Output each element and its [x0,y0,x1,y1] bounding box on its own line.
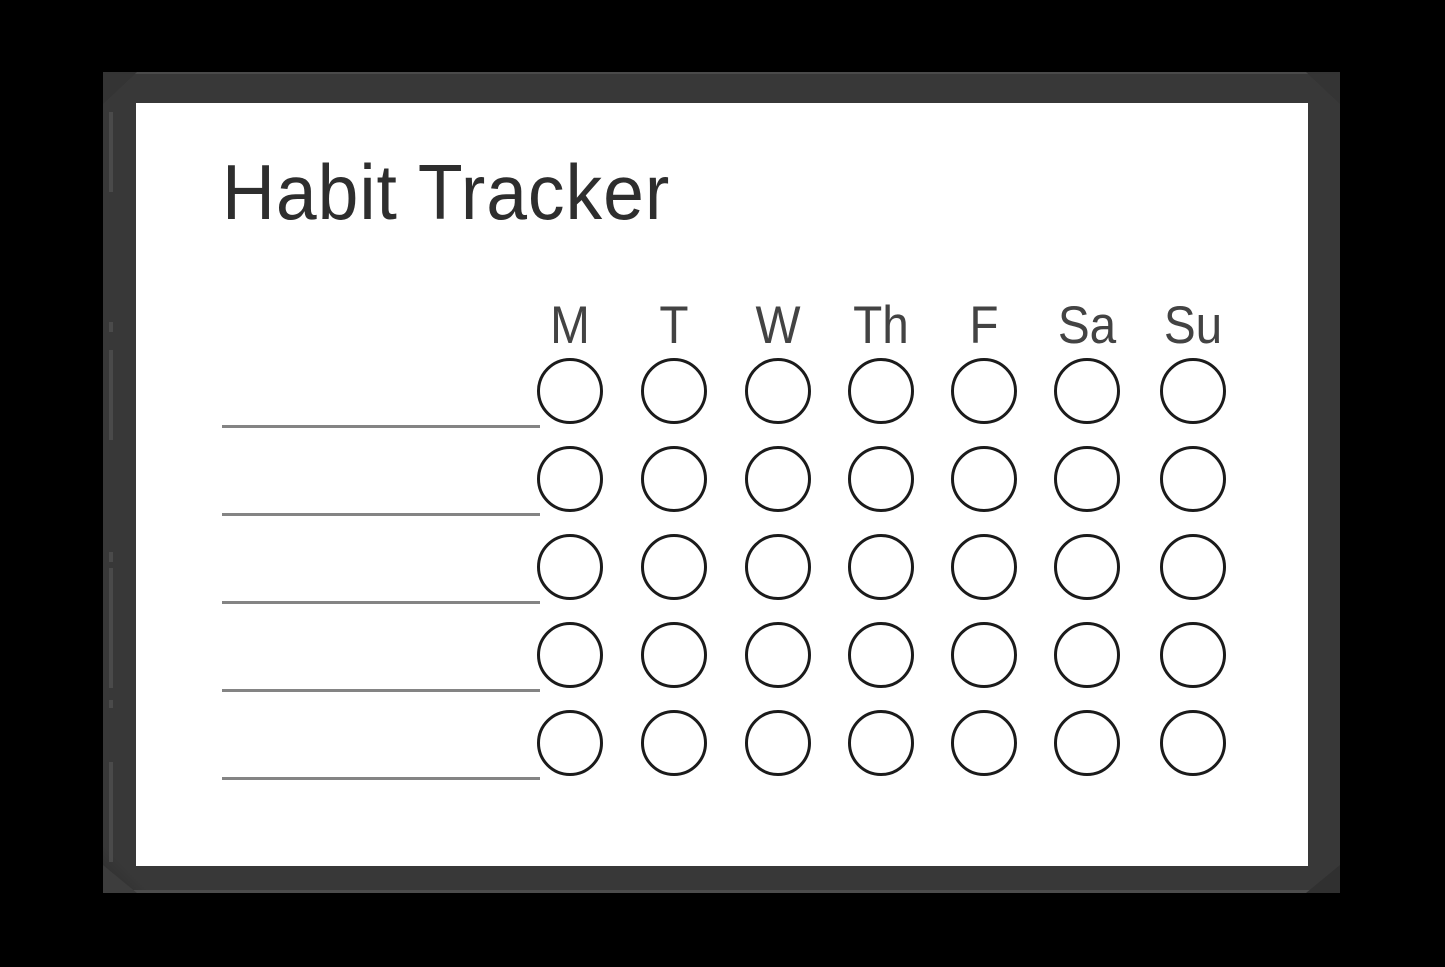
day-header-wednesday: W [731,299,825,352]
frame-bottom-highlight [103,890,1340,893]
day-header-thursday: Th [834,299,928,352]
frame-grain-mark [109,700,113,708]
frame-grain-mark [109,112,113,192]
habit-checkbox-friday[interactable] [951,622,1017,688]
habit-checkbox-tuesday[interactable] [641,710,707,776]
canvas-root: Habit Tracker MTWThFSaSu [0,0,1445,967]
habit-checkbox-tuesday[interactable] [641,358,707,424]
tracker-sheet: Habit Tracker MTWThFSaSu [136,103,1308,866]
habit-checkbox-wednesday[interactable] [745,358,811,424]
day-header-sunday: Su [1146,299,1240,352]
habit-checkbox-friday[interactable] [951,446,1017,512]
habit-checkbox-saturday[interactable] [1054,446,1120,512]
habit-checkbox-thursday[interactable] [848,358,914,424]
habit-checkbox-wednesday[interactable] [745,446,811,512]
day-header-saturday: Sa [1040,299,1134,352]
frame-grain-mark [109,552,113,562]
habit-checkbox-friday[interactable] [951,534,1017,600]
habit-checkbox-monday[interactable] [537,358,603,424]
habit-name-input-line[interactable] [222,513,540,516]
habit-checkbox-monday[interactable] [537,710,603,776]
habit-name-input-line[interactable] [222,425,540,428]
frame-grain-mark [109,322,113,332]
habit-checkbox-sunday[interactable] [1160,446,1226,512]
habit-checkbox-wednesday[interactable] [745,534,811,600]
habit-checkbox-saturday[interactable] [1054,358,1120,424]
habit-checkbox-thursday[interactable] [848,534,914,600]
day-header-friday: F [937,299,1031,352]
habit-checkbox-sunday[interactable] [1160,358,1226,424]
habit-checkbox-saturday[interactable] [1054,622,1120,688]
day-header-tuesday: T [627,299,721,352]
habit-checkbox-tuesday[interactable] [641,622,707,688]
habit-checkbox-sunday[interactable] [1160,622,1226,688]
habit-checkbox-wednesday[interactable] [745,710,811,776]
frame-grain-mark [109,350,113,440]
habit-checkbox-thursday[interactable] [848,622,914,688]
day-header-monday: M [523,299,617,352]
habit-checkbox-tuesday[interactable] [641,446,707,512]
frame-corner-top-right [1306,72,1340,104]
habit-checkbox-sunday[interactable] [1160,710,1226,776]
habit-checkbox-monday[interactable] [537,534,603,600]
habit-checkbox-wednesday[interactable] [745,622,811,688]
frame-corner-top-left [103,72,137,104]
frame-grain-mark [109,762,113,862]
habit-name-input-line[interactable] [222,601,540,604]
habit-checkbox-monday[interactable] [537,622,603,688]
habit-checkbox-saturday[interactable] [1054,710,1120,776]
frame-grain-mark [109,568,113,688]
habit-name-input-line[interactable] [222,777,540,780]
habit-checkbox-friday[interactable] [951,358,1017,424]
frame-top-highlight [103,72,1340,74]
page-title: Habit Tracker [222,153,670,231]
habit-checkbox-sunday[interactable] [1160,534,1226,600]
habit-checkbox-saturday[interactable] [1054,534,1120,600]
habit-checkbox-tuesday[interactable] [641,534,707,600]
habit-checkbox-friday[interactable] [951,710,1017,776]
habit-checkbox-thursday[interactable] [848,710,914,776]
habit-name-input-line[interactable] [222,689,540,692]
frame-corner-bottom-left [103,865,137,893]
habit-checkbox-monday[interactable] [537,446,603,512]
habit-checkbox-thursday[interactable] [848,446,914,512]
frame-corner-bottom-right [1306,865,1340,893]
